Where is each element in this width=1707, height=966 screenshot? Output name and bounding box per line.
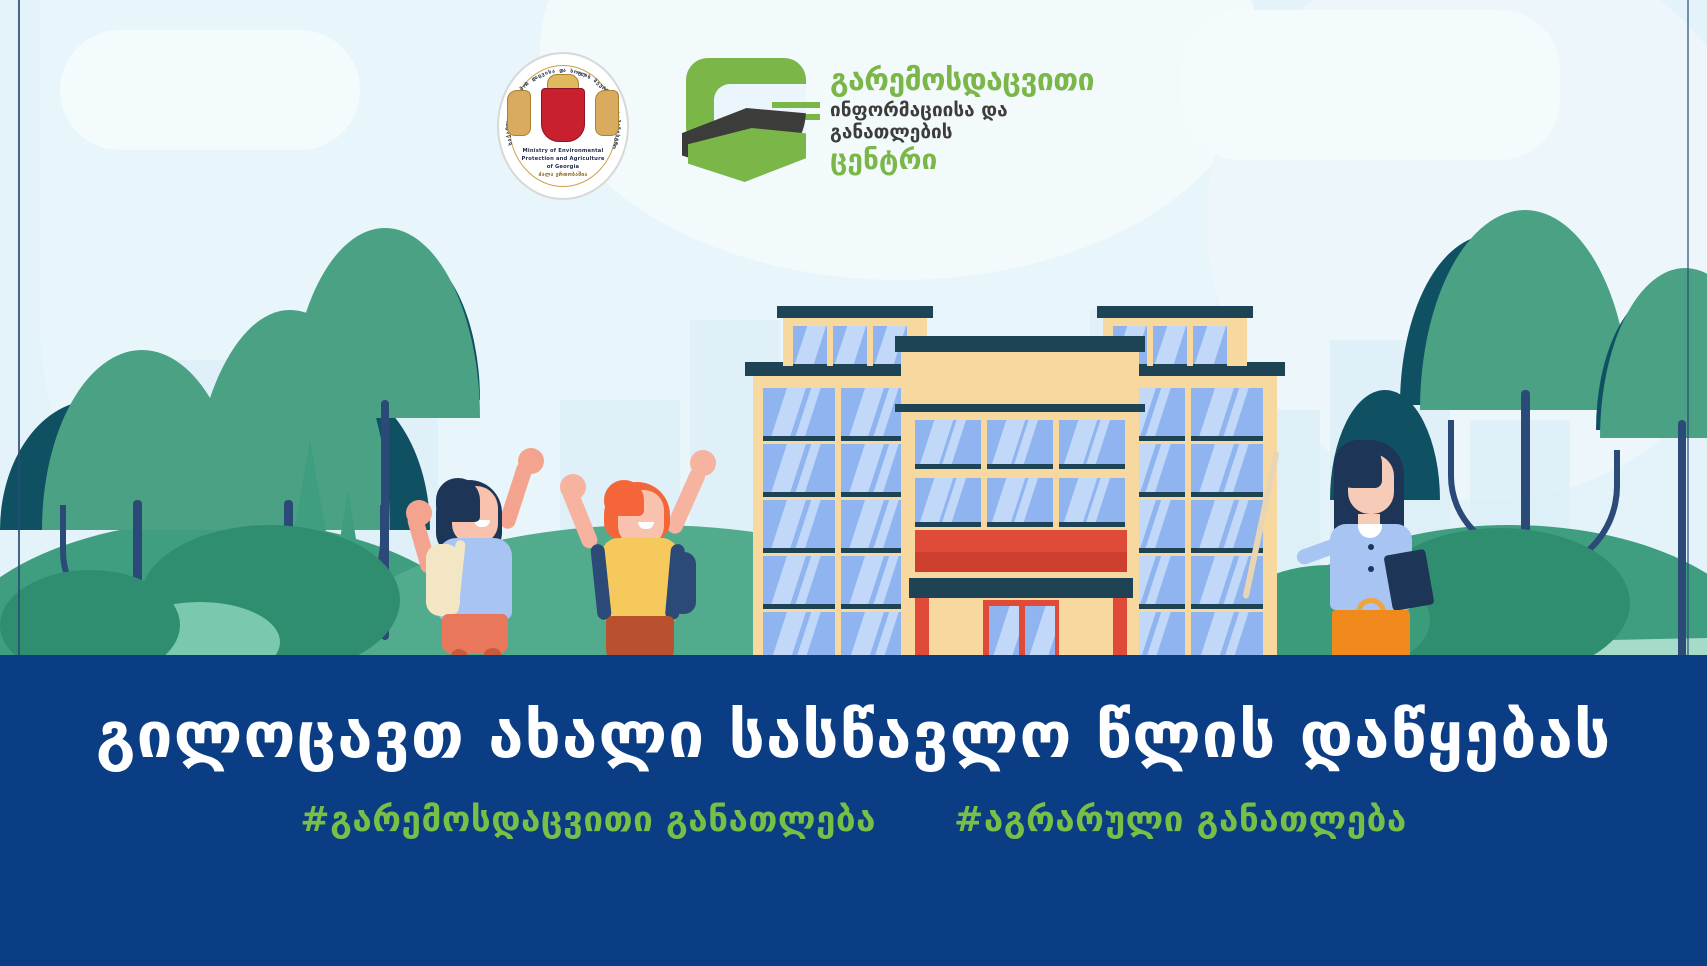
window — [1153, 326, 1187, 364]
window — [763, 500, 835, 548]
centre-logo: გარემოსდაცვითი ინფორმაციისა და განათლები… — [680, 52, 1120, 192]
boy-arm-right — [664, 466, 707, 536]
window — [833, 326, 867, 364]
window — [915, 478, 981, 522]
seal-lion-left — [507, 90, 531, 136]
girl-hand-left — [406, 500, 432, 526]
banner-title: გილოცავთ ახალი სასწავლო წლის დაწყებას — [0, 699, 1707, 773]
centre-logo-line-1: გარემოსდაცვითი — [830, 66, 1120, 96]
window — [763, 388, 835, 436]
cloud-1 — [60, 30, 360, 150]
school-building — [745, 278, 1285, 678]
girl-hair-front — [436, 478, 480, 522]
boy-hand-right — [690, 450, 716, 476]
entrance-sign-band — [915, 530, 1127, 552]
window — [987, 478, 1053, 522]
seal-line-3: of Georgia — [497, 164, 629, 171]
window — [1059, 420, 1125, 464]
hashtag-row: #გარემოსდაცვითი განათლება #აგრარული განა… — [0, 800, 1707, 840]
window — [1191, 388, 1263, 436]
building-cornice — [1097, 306, 1253, 318]
girl-student-waving — [400, 452, 570, 682]
window — [1191, 500, 1263, 548]
seal-line-2: Protection and Agriculture — [497, 156, 629, 163]
frame-rule-left — [18, 0, 20, 680]
boy-backpack — [670, 552, 696, 614]
seal-lion-right — [595, 90, 619, 136]
boy-hand-left — [560, 474, 586, 500]
seal-shield-icon — [541, 88, 585, 142]
girl-shorts — [442, 614, 508, 654]
window — [763, 444, 835, 492]
girl-hand-right — [518, 448, 544, 474]
window — [1191, 444, 1263, 492]
poster-root: საქართველოს გარემოს დაცვისა და სოფლის მე… — [0, 0, 1707, 966]
cloud-2 — [1180, 10, 1560, 160]
window — [763, 612, 835, 660]
window — [793, 326, 827, 364]
seal-line-1: Ministry of Environmental — [497, 148, 629, 155]
seal-line-4: ძალა ერთობაშია — [497, 172, 629, 179]
teacher-hair-front — [1334, 440, 1382, 488]
boy-hair-front — [604, 480, 644, 516]
entrance-sign-band-shadow — [915, 552, 1127, 572]
hashtag-agrarian-education: #აგრარული განათლება — [954, 800, 1407, 840]
bottom-banner: გილოცავთ ახალი სასწავლო წლის დაწყებას #გ… — [0, 655, 1707, 966]
frame-rule-right — [1687, 0, 1689, 680]
logo-bar-1 — [772, 102, 820, 108]
teacher-button — [1368, 544, 1374, 550]
window — [1193, 326, 1227, 364]
centre-logo-text: გარემოსდაცვითი ინფორმაციისა და განათლები… — [830, 66, 1120, 174]
entrance-canopy — [909, 578, 1133, 598]
centre-logo-line-2: ინფორმაციისა და განათლების — [830, 100, 1120, 144]
building-cornice — [777, 306, 933, 318]
window — [987, 420, 1053, 464]
window — [915, 420, 981, 464]
teacher-with-folder — [1300, 440, 1440, 680]
centre-logo-line-3: ცენტრი — [830, 146, 1120, 174]
tree-trunk — [1678, 420, 1686, 660]
window — [1191, 612, 1263, 660]
window — [1059, 478, 1125, 522]
hashtag-environmental-education: #გარემოსდაცვითი განათლება — [300, 800, 876, 840]
building-belt — [895, 404, 1145, 412]
teacher-button — [1368, 566, 1374, 572]
building-cornice-center — [895, 336, 1145, 352]
folder — [1383, 549, 1434, 611]
ministry-seal: საქართველოს გარემოს დაცვისა და სოფლის მე… — [497, 52, 629, 200]
window — [763, 556, 835, 604]
centre-logo-mark-icon — [680, 58, 822, 182]
